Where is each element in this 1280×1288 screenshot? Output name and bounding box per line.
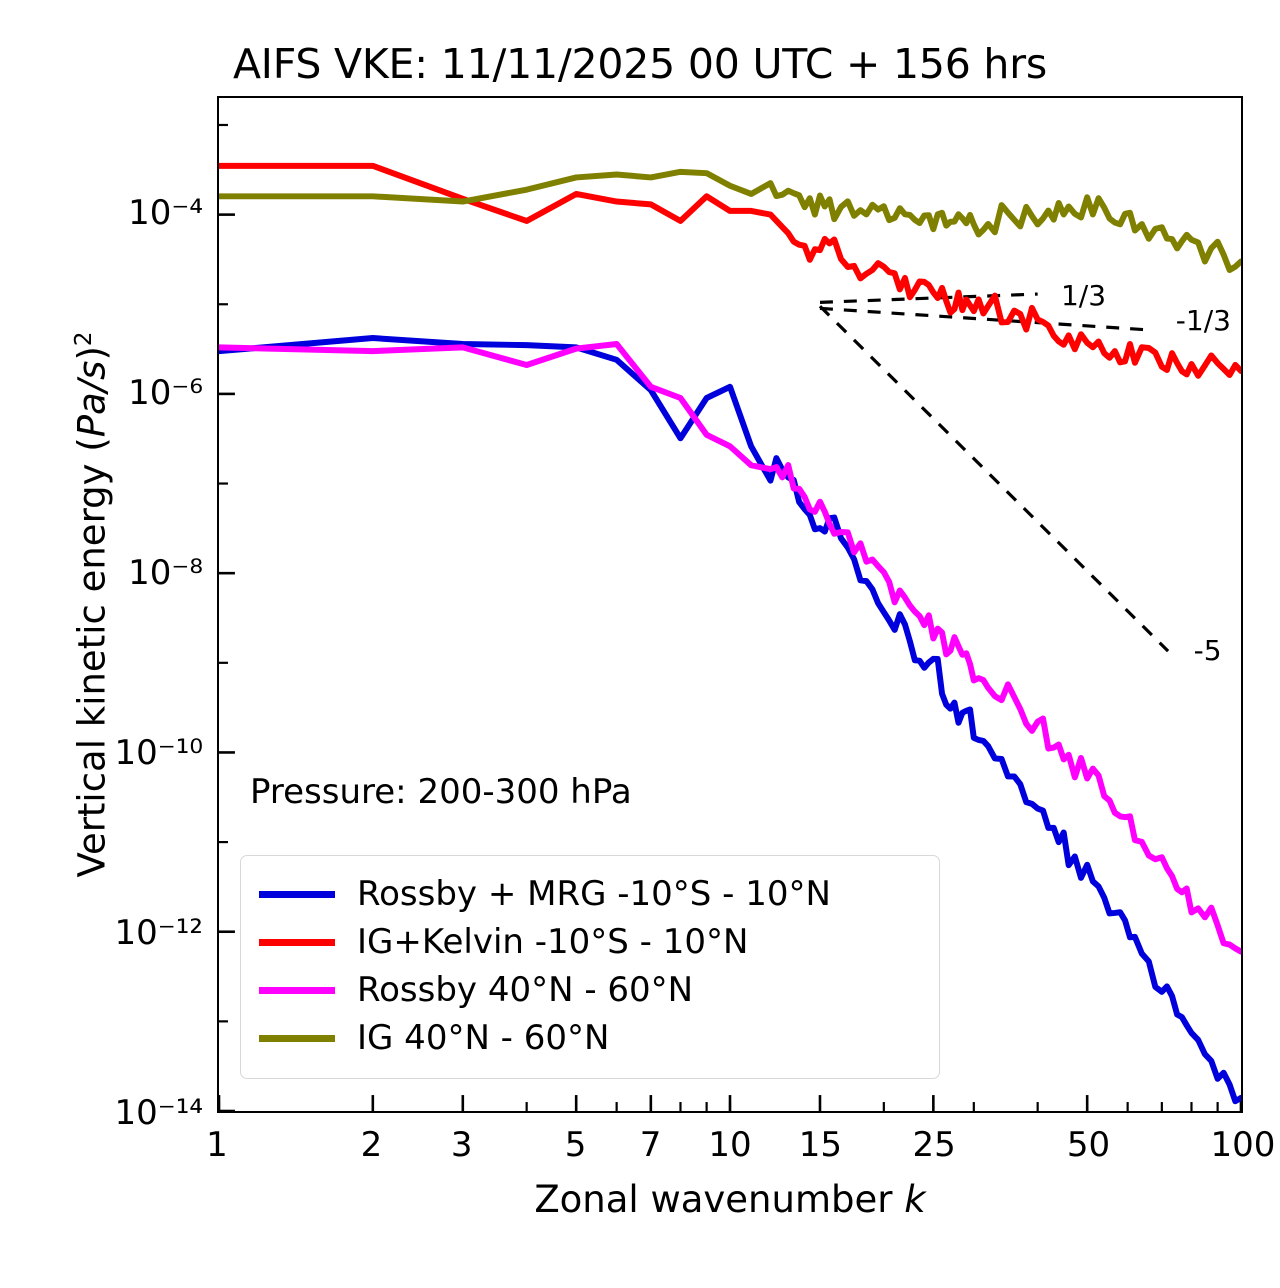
legend-item-0[interactable]: Rossby + MRG -10°S - 10°N — [259, 870, 921, 918]
figure-root: AIFS VKE: 11/11/2025 00 UTC + 156 hrs Ve… — [0, 0, 1280, 1288]
x-tick-label-10: 10 — [708, 1125, 751, 1165]
legend-item-2[interactable]: Rossby 40°N - 60°N — [259, 966, 921, 1014]
legend-label: IG+Kelvin -10°S - 10°N — [357, 922, 748, 962]
x-tick-label-25: 25 — [913, 1125, 956, 1165]
x-axis-label-symbol: k — [904, 1178, 925, 1221]
x-axis-label-main: Zonal wavenumber — [534, 1178, 904, 1221]
x-tick-label-15: 15 — [799, 1125, 842, 1165]
legend-swatch-icon — [259, 1035, 335, 1042]
legend-item-3[interactable]: IG 40°N - 60°N — [259, 1014, 921, 1062]
x-tick-label-7: 7 — [640, 1125, 662, 1165]
legend-swatch-icon — [259, 987, 335, 994]
y-tick-label--12: 10⁻¹² — [115, 913, 203, 953]
slope-label-minus-one-third: -1/3 — [1176, 304, 1231, 337]
x-tick-label-5: 5 — [565, 1125, 587, 1165]
y-tick-label--8: 10⁻⁸ — [128, 553, 203, 593]
series-line-3 — [219, 172, 1241, 270]
legend-label: Rossby + MRG -10°S - 10°N — [357, 874, 831, 914]
y-axis-label-exponent: 2 — [71, 332, 97, 347]
page-title: AIFS VKE: 11/11/2025 00 UTC + 156 hrs — [0, 40, 1280, 88]
slope-label-plus-one-third: 1/3 — [1061, 279, 1106, 312]
y-tick-label--6: 10⁻⁶ — [128, 373, 203, 413]
y-axis-label-units: Pa/s — [70, 361, 113, 438]
legend-item-1[interactable]: IG+Kelvin -10°S - 10°N — [259, 918, 921, 966]
x-tick-label-2: 2 — [361, 1125, 383, 1165]
y-tick-label--14: 10⁻¹⁴ — [115, 1093, 203, 1133]
legend-swatch-icon — [259, 939, 335, 946]
x-tick-label-100: 100 — [1211, 1125, 1276, 1165]
x-tick-label-50: 50 — [1067, 1125, 1110, 1165]
legend: Rossby + MRG -10°S - 10°NIG+Kelvin -10°S… — [240, 855, 940, 1079]
y-axis-label-main: Vertical kinetic energy ( — [70, 437, 113, 877]
pressure-annotation: Pressure: 200-300 hPa — [250, 772, 632, 812]
y-axis-label: Vertical kinetic energy (Pa/s)2 — [56, 96, 112, 1113]
x-tick-label-1: 1 — [206, 1125, 228, 1165]
slope-label-minus-five: -5 — [1194, 634, 1222, 667]
y-tick-label--4: 10⁻⁴ — [128, 193, 203, 233]
y-axis-label-tail: ) — [70, 346, 113, 360]
x-axis-label: Zonal wavenumber k — [217, 1178, 1243, 1221]
y-tick-label--10: 10⁻¹⁰ — [115, 733, 203, 773]
x-tick-label-3: 3 — [451, 1125, 473, 1165]
legend-label: IG 40°N - 60°N — [357, 1018, 609, 1058]
reference-line-1-3 — [820, 294, 1038, 302]
legend-swatch-icon — [259, 891, 335, 898]
legend-label: Rossby 40°N - 60°N — [357, 970, 693, 1010]
